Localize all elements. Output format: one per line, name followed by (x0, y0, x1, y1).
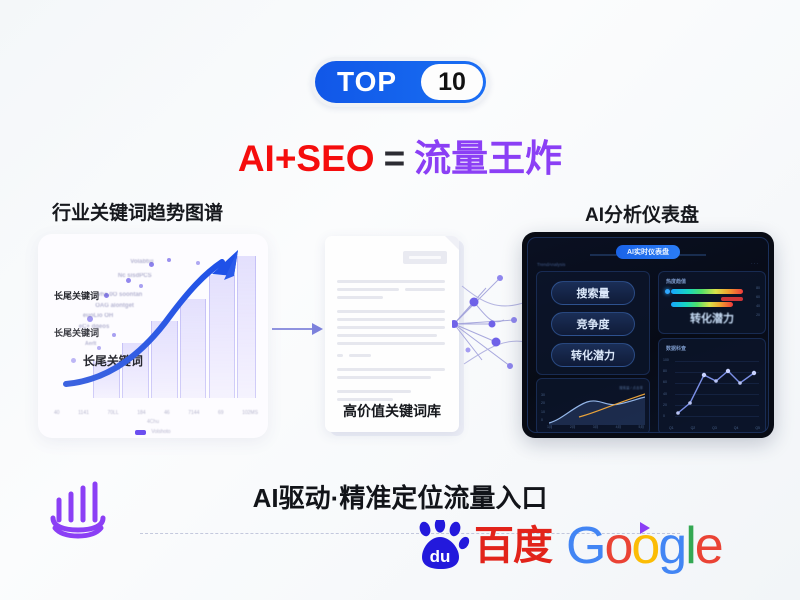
axis-tick: Q5 (755, 426, 760, 430)
google-letter: l (685, 517, 695, 575)
trend-x-axis: 40 1141 70LL 184 46 7144 69 102MS (54, 410, 258, 416)
dashboard-pill-conversion[interactable]: 转化潜力 (551, 343, 635, 367)
network-node (497, 275, 503, 281)
trend-axis-title: 4Chu (38, 419, 268, 425)
baidu-wordmark: 百度 (474, 526, 552, 566)
google-letter: e (695, 517, 722, 575)
axis-tick: 1月 (547, 425, 552, 430)
top-rank-badge-body: TOP 10 (315, 61, 486, 103)
section-label-trend: 行业关键词趋势图谱 (52, 198, 223, 225)
axis-tick: Q1 (669, 426, 674, 430)
area-chart-y-axis: 30 20 10 0 (541, 393, 545, 422)
axis-tick: 70LL (107, 410, 118, 416)
google-letter: g (658, 517, 685, 575)
network-node (470, 298, 479, 307)
document-text-line (337, 334, 437, 337)
axis-tick: 20 (541, 401, 545, 405)
document-text-line (337, 390, 411, 393)
axis-tick: Q3 (712, 426, 717, 430)
network-node (507, 363, 513, 369)
axis-tick: 69 (218, 410, 224, 416)
axis-tick: 80 (663, 369, 669, 373)
axis-tick: 100 (663, 358, 669, 362)
line-chart-x-axis: Q1 Q2 Q3 Q4 Q5 (669, 426, 760, 430)
dashboard-pill-search-volume[interactable]: 搜索量 (551, 281, 635, 305)
brand-logos: du 百度 Google (414, 520, 722, 572)
axis-tick: 60 (663, 380, 669, 384)
axis-tick: 46 (164, 410, 170, 416)
top-rank-badge-number: 10 (438, 70, 466, 95)
document-text-line (337, 368, 445, 371)
axis-tick: 3月 (593, 425, 598, 430)
heat-bar (671, 289, 743, 294)
trend-chart-plot: Volabtui Nc sisdPCS vhs.0O soontan OAG a… (52, 244, 258, 398)
google-letter: G (566, 517, 604, 575)
line-chart-graphic (676, 357, 761, 419)
svg-text:du: du (430, 547, 451, 566)
document-text-line (337, 342, 445, 345)
bar-chart-pedestal-icon (45, 478, 111, 540)
dashboard-corner-label: TrendAnalysis (537, 262, 565, 267)
play-triangle-icon (640, 522, 650, 534)
axis-tick: 20 (663, 403, 669, 407)
axis-tick: 40 (54, 410, 60, 416)
legend-swatch (135, 430, 146, 435)
axis-tick: 184 (137, 410, 145, 416)
axis-tick: 10 (541, 410, 545, 414)
network-node (511, 317, 517, 323)
document-text-line (337, 318, 445, 321)
axis-tick: 30 (541, 393, 545, 397)
document-text-line (337, 354, 343, 357)
slide-canvas: TOP 10 AI+SEO=流量王炸 行业关键词趋势图谱 AI分析仪表盘 (0, 0, 800, 600)
headline-operator: = (384, 138, 406, 179)
network-node (466, 348, 471, 353)
trend-legend: Volshoto (38, 429, 268, 435)
document-text-line (337, 326, 445, 329)
dashboard-menu-icon[interactable]: ··· (751, 261, 759, 267)
line-chart-y-axis: 100 80 60 40 20 0 (663, 358, 669, 418)
page-title: AI+SEO=流量王炸 (0, 128, 800, 182)
dashboard-heat-panel: 热度趋值 80 60 40 20 转化潜力 (658, 271, 766, 334)
heat-tick: 60 (756, 295, 760, 299)
document-text-line (349, 354, 371, 357)
heat-tick: 80 (756, 286, 760, 290)
dashboard-header-badge: AI实时仪表盘 (616, 245, 680, 259)
axis-tick: 102MS (242, 410, 258, 416)
axis-tick: 4月 (616, 425, 621, 430)
heat-alert-marker (721, 297, 743, 301)
tagline: AI驱动·精准定位流量入口 (0, 478, 800, 515)
neural-network-graphic (452, 268, 528, 378)
area-chart-x-axis: 1月 2月 3月 4月 5月 (547, 425, 644, 430)
trend-chart-card: Volabtui Nc sisdPCS vhs.0O soontan OAG a… (38, 234, 268, 438)
axis-tick: 0 (541, 418, 545, 422)
heat-panel-overlay-text: 转化潜力 (659, 310, 765, 326)
headline-right: 流量王炸 (414, 138, 562, 179)
dashboard-pill-competition[interactable]: 竞争度 (551, 312, 635, 336)
axis-tick: 0 (663, 414, 669, 418)
area-chart-graphic (549, 391, 645, 425)
trend-growth-arrow (52, 244, 252, 398)
keyword-library-document: 高价值关键词库 (325, 236, 459, 432)
document-header-block (403, 251, 447, 264)
heat-bar (671, 302, 733, 307)
heat-panel-title: 热度趋值 (666, 278, 686, 285)
document-text-line (337, 288, 399, 291)
baidu-paw-logo-icon: du (414, 520, 470, 572)
dashboard-line-chart-panel: 数据科查 100 80 60 40 20 0 (658, 338, 766, 433)
top-rank-badge: TOP 10 (311, 57, 490, 107)
google-wordmark: Google (566, 520, 722, 572)
line-panel-title: 数据科查 (666, 345, 686, 352)
axis-tick: 1141 (78, 410, 89, 416)
ai-dashboard-device: AI实时仪表盘 TrendAnalysis ··· 搜索量 竞争度 转化潜力 热… (522, 232, 774, 438)
network-node (492, 338, 501, 347)
top-rank-badge-label: TOP (337, 68, 397, 96)
document-text-line (337, 280, 445, 283)
document-text-line (337, 376, 431, 379)
heat-knob[interactable] (665, 289, 670, 294)
document-text-line (337, 296, 383, 299)
flow-arrow-right-icon (272, 322, 324, 336)
heat-tick: 40 (756, 304, 760, 308)
top-rank-badge-circle: 10 (421, 64, 483, 100)
legend-label: Volshoto (151, 429, 170, 435)
document-title: 高价值关键词库 (325, 401, 459, 421)
axis-tick: 2月 (570, 425, 575, 430)
axis-tick: Q4 (734, 426, 739, 430)
ai-dashboard-screen: AI实时仪表盘 TrendAnalysis ··· 搜索量 竞争度 转化潜力 热… (527, 237, 769, 433)
section-label-dashboard: AI分析仪表盘 (585, 200, 699, 227)
axis-tick: 40 (663, 392, 669, 396)
axis-tick: Q2 (691, 426, 696, 430)
document-folded-corner (445, 236, 459, 250)
network-node (489, 321, 496, 328)
document-text-line (337, 310, 445, 313)
dashboard-metrics-panel: 搜索量 竞争度 转化潜力 (536, 271, 650, 375)
headline-left: AI+SEO (238, 138, 375, 179)
axis-tick: 5月 (639, 425, 644, 430)
google-letter: o (604, 517, 631, 575)
axis-tick: 7144 (188, 410, 199, 416)
document-text-line (405, 288, 445, 291)
dashboard-area-chart-panel: 搜索量 / 点击率 30 20 10 0 1月 2月 3月 4月 (536, 378, 650, 433)
